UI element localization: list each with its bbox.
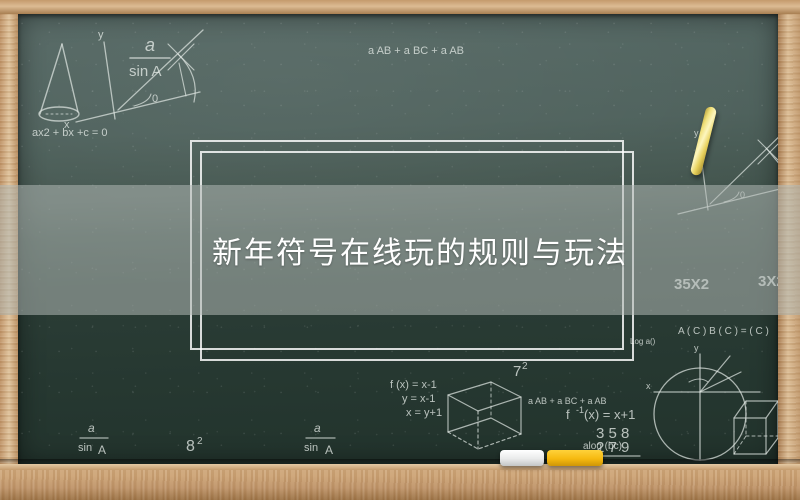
svg-text:0: 0 bbox=[152, 93, 158, 105]
svg-text:(x) = x+1: (x) = x+1 bbox=[584, 407, 635, 422]
white-eraser bbox=[500, 450, 544, 466]
svg-text:sin A: sin A bbox=[129, 63, 162, 80]
svg-text:2: 2 bbox=[197, 436, 203, 447]
svg-text:f (x) = x-1: f (x) = x-1 bbox=[390, 379, 437, 391]
yellow-eraser bbox=[547, 450, 603, 466]
chalk-cone-drawing bbox=[39, 44, 79, 121]
chalk-fraction-asina-bottom-2: a sin A bbox=[304, 421, 335, 457]
ledge-lip bbox=[0, 464, 800, 470]
chalk-fraction-asina-topleft: a sin A bbox=[129, 35, 170, 80]
svg-text:sin: sin bbox=[78, 442, 92, 454]
page-title: 新年符号在线玩的规则与玩法 bbox=[212, 228, 628, 272]
chalkboard-scene: a sin A ax2 + bx +c = 0 y x bbox=[0, 0, 800, 500]
svg-text:A: A bbox=[98, 443, 106, 457]
svg-text:8: 8 bbox=[186, 438, 195, 455]
svg-text:x = y+1: x = y+1 bbox=[406, 407, 442, 419]
svg-text:y: y bbox=[694, 343, 699, 353]
chalk-quadratic-equation: ax2 + bx +c = 0 bbox=[32, 127, 108, 139]
svg-text:y = x-1: y = x-1 bbox=[402, 393, 435, 405]
title-overlay-band: 新年符号在线玩的规则与玩法 bbox=[0, 185, 800, 315]
chalk-angle-diagram-left: y x 0 bbox=[64, 29, 203, 131]
svg-text:x: x bbox=[646, 381, 651, 391]
chalk-misc-expression: a AB + a BC + a AB bbox=[528, 396, 607, 406]
chalk-matrix-expression: A ( C ) B ( C ) = ( C ) bbox=[678, 326, 769, 337]
svg-text:a: a bbox=[145, 35, 155, 55]
frame-top-rail bbox=[0, 0, 800, 14]
svg-text:2: 2 bbox=[522, 361, 528, 372]
chalk-fraction-asina-bottom-1: a sin A bbox=[78, 421, 108, 457]
svg-text:a: a bbox=[314, 421, 321, 435]
svg-text:-1: -1 bbox=[576, 405, 584, 415]
chalk-cube-center bbox=[448, 382, 521, 449]
svg-text:y: y bbox=[98, 29, 104, 41]
svg-text:a: a bbox=[88, 421, 95, 435]
chalk-inverse-function: f -1 (x) = x+1 bbox=[566, 405, 635, 422]
chalk-pie-chart-diagram: x y bbox=[646, 343, 760, 460]
svg-text:7: 7 bbox=[513, 363, 521, 380]
chalk-power-eight: 8 2 bbox=[186, 436, 203, 455]
chalk-cube-right bbox=[734, 401, 778, 454]
svg-text:sin: sin bbox=[304, 442, 318, 454]
svg-text:a AB + a BC + a AB: a AB + a BC + a AB bbox=[368, 45, 464, 57]
svg-text:A: A bbox=[325, 443, 333, 457]
svg-text:f: f bbox=[566, 407, 570, 422]
chalk-power-seven: 7 2 bbox=[513, 361, 528, 380]
svg-text:x: x bbox=[64, 119, 70, 131]
